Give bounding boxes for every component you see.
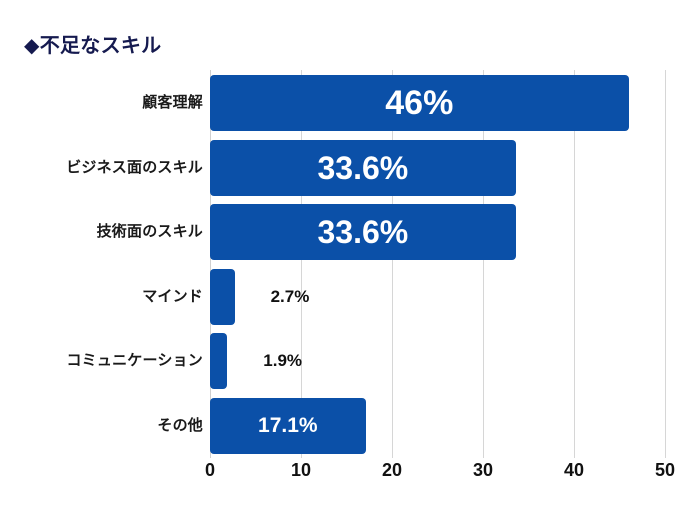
x-tick-label: 30 <box>473 460 493 481</box>
chart-page: ◆不足なスキル 顧客理解46%ビジネス面のスキル33.6%技術面のスキル33.6… <box>0 0 700 525</box>
bar-value-label: 2.7% <box>271 269 310 325</box>
bar-value-label: 33.6% <box>210 140 516 196</box>
bar[interactable]: 33.6% <box>210 204 516 260</box>
bar-row[interactable]: その他17.1% <box>0 394 700 458</box>
bar[interactable] <box>210 269 235 325</box>
bar-value-label: 17.1% <box>210 398 366 454</box>
bar-value-label: 33.6% <box>210 204 516 260</box>
category-label: 技術面のスキル <box>97 200 203 264</box>
category-label: その他 <box>157 394 203 458</box>
bar-row[interactable]: ビジネス面のスキル33.6% <box>0 136 700 200</box>
x-axis: 01020304050 <box>0 458 700 498</box>
bar-row[interactable]: コミュニケーション1.9% <box>0 329 700 393</box>
bar-row[interactable]: マインド2.7% <box>0 265 700 329</box>
x-tick-label: 10 <box>291 460 311 481</box>
bar-row[interactable]: 顧客理解46% <box>0 71 700 135</box>
bar[interactable]: 46% <box>210 75 629 131</box>
x-tick-label: 0 <box>205 460 215 481</box>
category-label: マインド <box>142 265 203 329</box>
x-tick-label: 40 <box>564 460 584 481</box>
category-label: コミュニケーション <box>66 329 203 393</box>
bar-value-label: 1.9% <box>263 333 302 389</box>
x-tick-label: 20 <box>382 460 402 481</box>
category-label: 顧客理解 <box>142 71 203 135</box>
bar-series: 顧客理解46%ビジネス面のスキル33.6%技術面のスキル33.6%マインド2.7… <box>0 0 700 525</box>
bar-row[interactable]: 技術面のスキル33.6% <box>0 200 700 264</box>
bar[interactable]: 17.1% <box>210 398 366 454</box>
bar-value-label: 46% <box>210 75 629 131</box>
category-label: ビジネス面のスキル <box>66 136 203 200</box>
x-tick-label: 50 <box>655 460 675 481</box>
bar[interactable] <box>210 333 227 389</box>
bar[interactable]: 33.6% <box>210 140 516 196</box>
